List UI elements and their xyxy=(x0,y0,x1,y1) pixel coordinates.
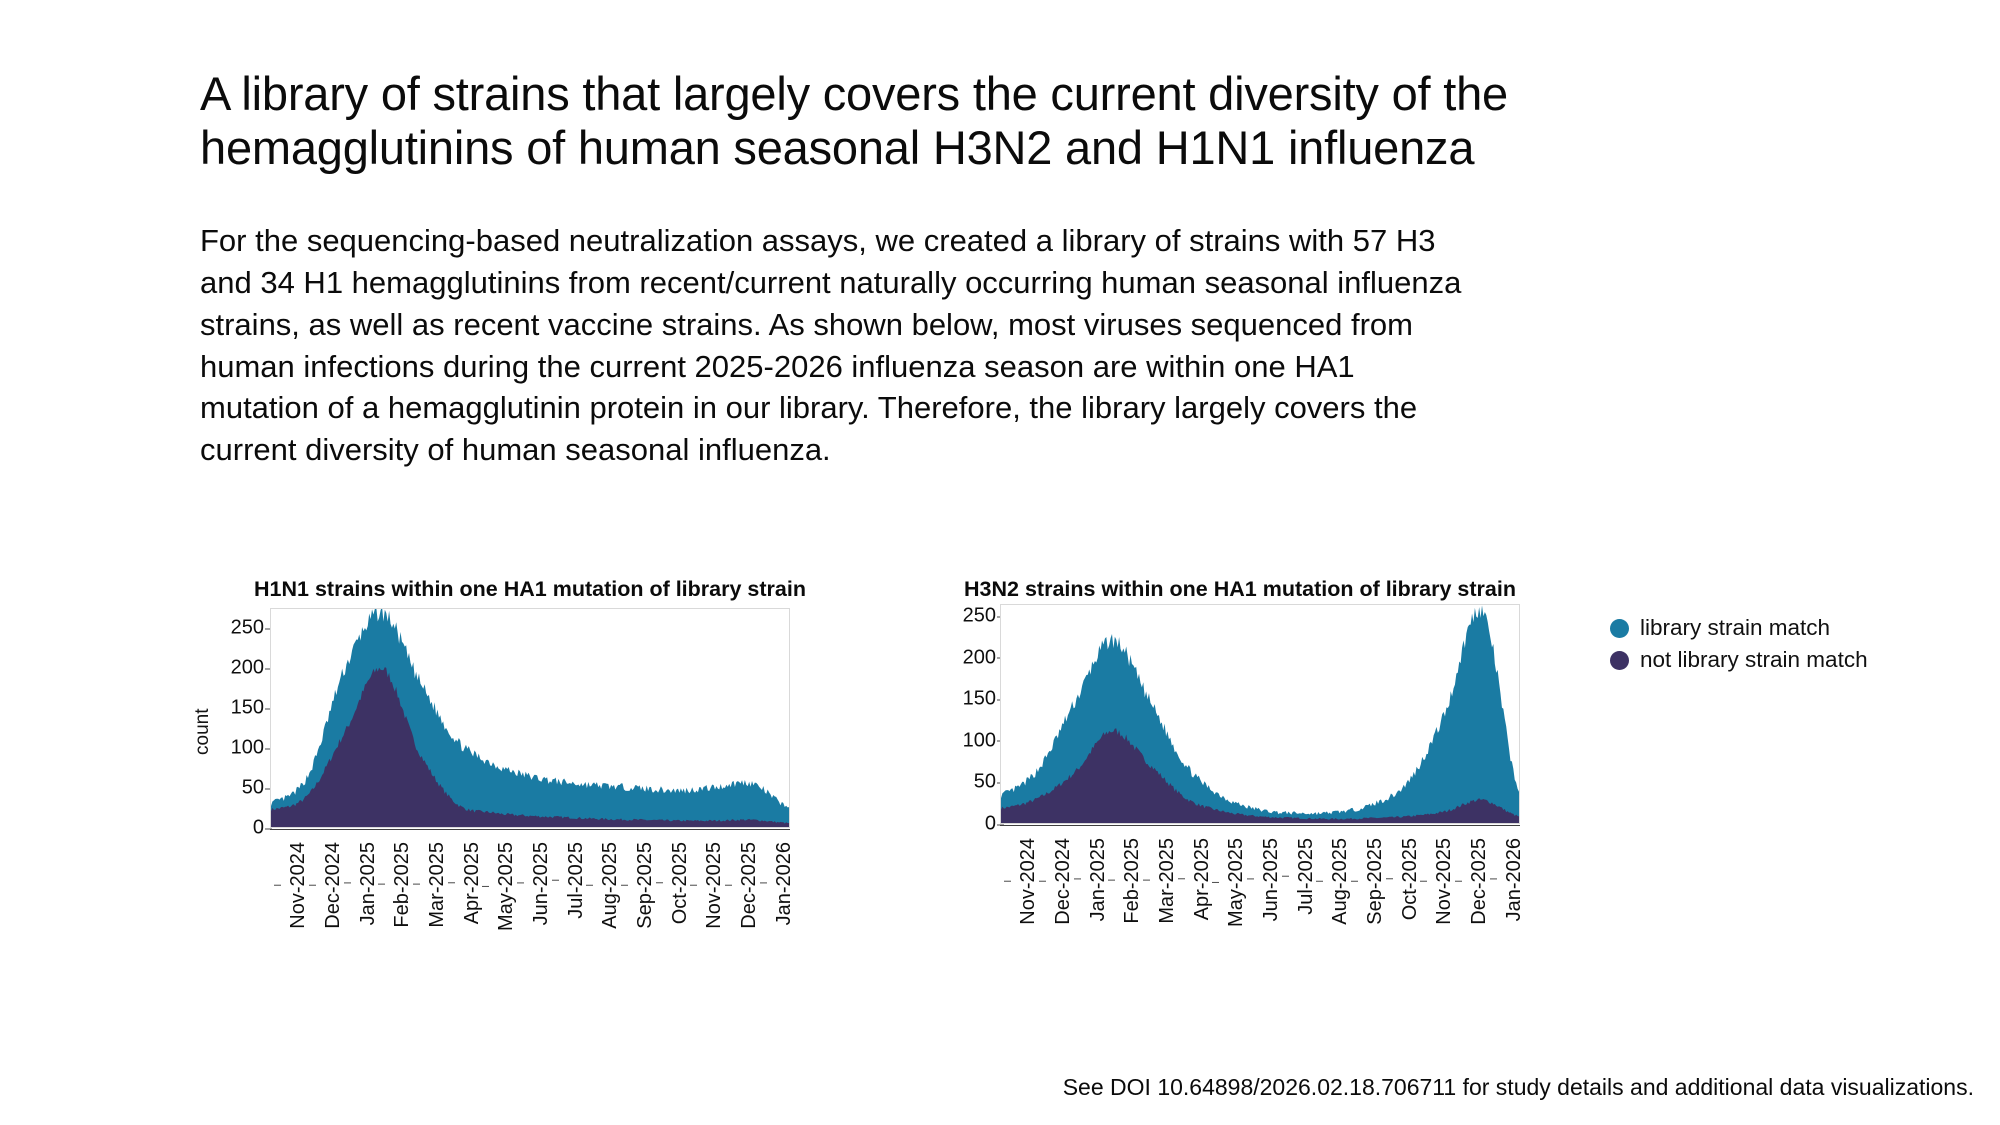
body-line-3: strains, as well as recent vaccine strai… xyxy=(200,304,1800,346)
x-tick-label: Nov-2025 xyxy=(1433,838,1456,925)
x-tick-label: Jun-2025 xyxy=(1260,838,1283,921)
body-line-5: mutation of a hemagglutinin protein in o… xyxy=(200,387,1800,429)
x-axis-ticks-h1n1: Nov-2024Dec-2024Jan-2025Feb-2025Mar-2025… xyxy=(270,830,790,990)
body-line-1: For the sequencing-based neutralization … xyxy=(200,220,1800,262)
x-tick-label: Dec-2025 xyxy=(1468,838,1491,925)
plot-area-h3n2 xyxy=(1000,604,1520,824)
x-tick-label: Sep-2025 xyxy=(1364,838,1387,925)
x-tick-label: Dec-2025 xyxy=(738,842,761,929)
legend-swatch-icon xyxy=(1610,619,1629,638)
x-tick-label: Jul-2025 xyxy=(565,842,588,919)
y-tick-label: 200 xyxy=(231,657,264,680)
area-chart-svg-h1n1 xyxy=(271,609,789,827)
plot-box-h3n2 xyxy=(1000,604,1520,824)
x-tick-label: Jan-2026 xyxy=(1503,838,1526,921)
x-tick-label: Apr-2025 xyxy=(461,842,484,924)
x-tick-label: Mar-2025 xyxy=(426,842,449,928)
y-axis-ticks-h3n2: 050100150200250 xyxy=(910,604,996,824)
legend-item-1[interactable]: not library strain match xyxy=(1610,644,1868,676)
chart-panel-h1n1: H1N1 strains within one HA1 mutation of … xyxy=(170,560,890,1000)
y-tick-label: 250 xyxy=(963,605,996,628)
x-tick-label: Sep-2025 xyxy=(634,842,657,929)
x-tick-label: Aug-2025 xyxy=(1329,838,1352,925)
slide-root: A library of strains that largely covers… xyxy=(0,0,2000,1125)
chart-panel-h3n2: H3N2 strains within one HA1 mutation of … xyxy=(910,560,1610,1000)
y-tick-label: 200 xyxy=(963,646,996,669)
x-tick-label: Dec-2024 xyxy=(1052,838,1075,925)
x-axis-ticks-h3n2: Nov-2024Dec-2024Jan-2025Feb-2025Mar-2025… xyxy=(1000,826,1520,986)
chart-title-h3n2: H3N2 strains within one HA1 mutation of … xyxy=(910,577,1570,602)
x-tick-label: Mar-2025 xyxy=(1156,838,1179,924)
x-tick-label: Jan-2025 xyxy=(1087,838,1110,921)
x-tick-label: Jul-2025 xyxy=(1295,838,1318,915)
chart-legend: library strain matchnot library strain m… xyxy=(1610,612,1868,676)
x-tick-label: May-2025 xyxy=(1225,838,1248,927)
x-tick-label: May-2025 xyxy=(495,842,518,931)
x-tick-label: Feb-2025 xyxy=(391,842,414,928)
x-tick-label: Aug-2025 xyxy=(599,842,622,929)
legend-label: library strain match xyxy=(1640,617,1830,640)
y-tick-label: 0 xyxy=(253,817,264,840)
x-tick-label: Dec-2024 xyxy=(322,842,345,929)
y-tick-label: 100 xyxy=(963,729,996,752)
page-title: A library of strains that largely covers… xyxy=(200,67,1800,174)
body-line-2: and 34 H1 hemagglutinins from recent/cur… xyxy=(200,262,1800,304)
body-line-4: human infections during the current 2025… xyxy=(200,346,1800,388)
x-tick-label: Feb-2025 xyxy=(1121,838,1144,924)
x-tick-label: Oct-2025 xyxy=(669,842,692,924)
x-tick-label: Jan-2026 xyxy=(773,842,796,925)
legend-swatch-icon xyxy=(1610,651,1629,670)
area-chart-svg-h3n2 xyxy=(1001,605,1519,823)
y-tick-label: 150 xyxy=(231,697,264,720)
y-tick-label: 50 xyxy=(242,777,264,800)
chart-title-h1n1: H1N1 strains within one HA1 mutation of … xyxy=(210,577,850,602)
page-title-line-1: A library of strains that largely covers… xyxy=(200,67,1800,121)
body-line-6: current diversity of human seasonal infl… xyxy=(200,429,1800,471)
y-tick-label: 0 xyxy=(985,813,996,836)
x-tick-label: Nov-2024 xyxy=(1017,838,1040,925)
legend-label: not library strain match xyxy=(1640,649,1868,672)
x-tick-label: Nov-2025 xyxy=(703,842,726,929)
body-paragraph: For the sequencing-based neutralization … xyxy=(200,220,1800,471)
footer-doi-note: See DOI 10.64898/2026.02.18.706711 for s… xyxy=(0,1074,1974,1101)
x-tick-label: Apr-2025 xyxy=(1191,838,1214,920)
y-axis-ticks-h1n1: 050100150200250 xyxy=(178,608,264,828)
y-tick-label: 100 xyxy=(231,737,264,760)
x-tick-label: Jun-2025 xyxy=(530,842,553,925)
y-tick-label: 150 xyxy=(963,688,996,711)
plot-box-h1n1 xyxy=(270,608,790,828)
x-tick-label: Oct-2025 xyxy=(1399,838,1422,920)
x-tick-label: Jan-2025 xyxy=(357,842,380,925)
y-tick-label: 50 xyxy=(974,771,996,794)
plot-area-h1n1 xyxy=(270,608,790,828)
y-tick-label: 250 xyxy=(231,617,264,640)
page-title-line-2: hemagglutinins of human seasonal H3N2 an… xyxy=(200,121,1800,175)
x-tick-label: Nov-2024 xyxy=(287,842,310,929)
legend-item-0[interactable]: library strain match xyxy=(1610,612,1868,644)
